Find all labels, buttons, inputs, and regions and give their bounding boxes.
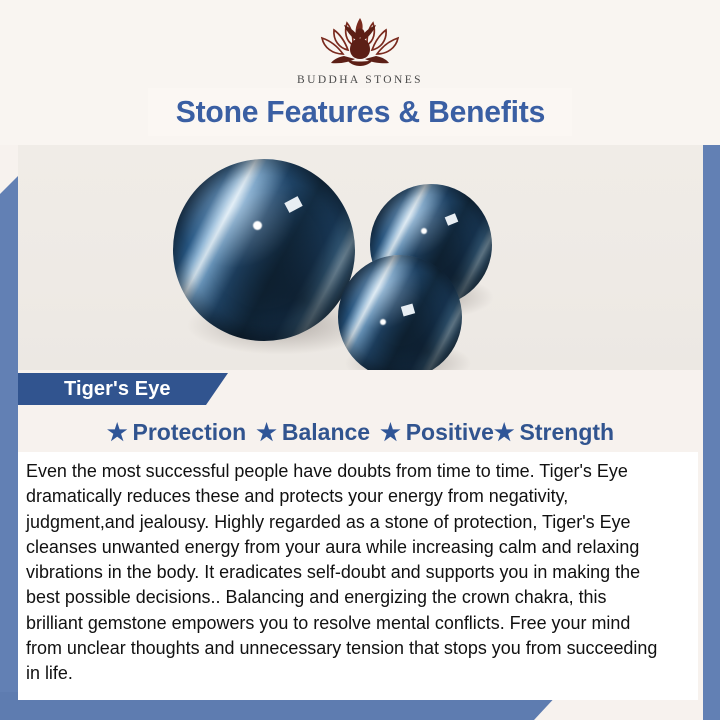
infographic-canvas: BUDDHA STONES Stone Features & Benefits … bbox=[0, 0, 720, 720]
medium-sphere-highlight bbox=[421, 228, 427, 234]
small-sphere-highlight bbox=[380, 319, 386, 325]
small-sphere-reflection bbox=[401, 303, 415, 316]
stone-name-banner: Tiger's Eye bbox=[18, 373, 228, 405]
large-sphere-reflection bbox=[284, 196, 302, 213]
left-border-bar bbox=[0, 176, 18, 720]
brand-name: BUDDHA STONES bbox=[297, 74, 423, 86]
lotus-meditation-icon bbox=[300, 14, 420, 72]
brand-logo: BUDDHA STONES bbox=[0, 14, 720, 86]
large-sphere bbox=[173, 159, 355, 341]
benefit-item: ★ Positive bbox=[380, 419, 494, 446]
page-title-strip: Stone Features & Benefits bbox=[148, 88, 572, 136]
benefit-item: ★ Balance bbox=[256, 419, 370, 446]
benefit-label: Balance bbox=[282, 419, 370, 446]
description-text: Even the most successful people have dou… bbox=[26, 458, 665, 686]
star-icon: ★ bbox=[494, 421, 515, 444]
star-icon: ★ bbox=[107, 421, 128, 444]
header: BUDDHA STONES Stone Features & Benefits bbox=[0, 0, 720, 145]
star-icon: ★ bbox=[380, 421, 401, 444]
benefit-item: ★ Protection bbox=[107, 419, 246, 446]
stone-name-label: Tiger's Eye bbox=[18, 378, 171, 401]
page-title: Stone Features & Benefits bbox=[175, 94, 544, 130]
small-sphere bbox=[338, 255, 462, 370]
large-sphere-highlight bbox=[253, 221, 262, 230]
benefits-row: ★ Protection ★ Balance ★ Positive ★ Stre… bbox=[18, 412, 703, 452]
benefit-label: Protection bbox=[133, 419, 247, 446]
medium-sphere-reflection bbox=[444, 213, 458, 225]
benefit-item: ★ Strength bbox=[494, 419, 614, 446]
stone-photo bbox=[18, 145, 703, 370]
description-panel: Even the most successful people have dou… bbox=[18, 452, 698, 700]
star-icon: ★ bbox=[256, 421, 277, 444]
benefit-label: Strength bbox=[520, 419, 615, 446]
benefit-label: Positive bbox=[406, 419, 494, 446]
